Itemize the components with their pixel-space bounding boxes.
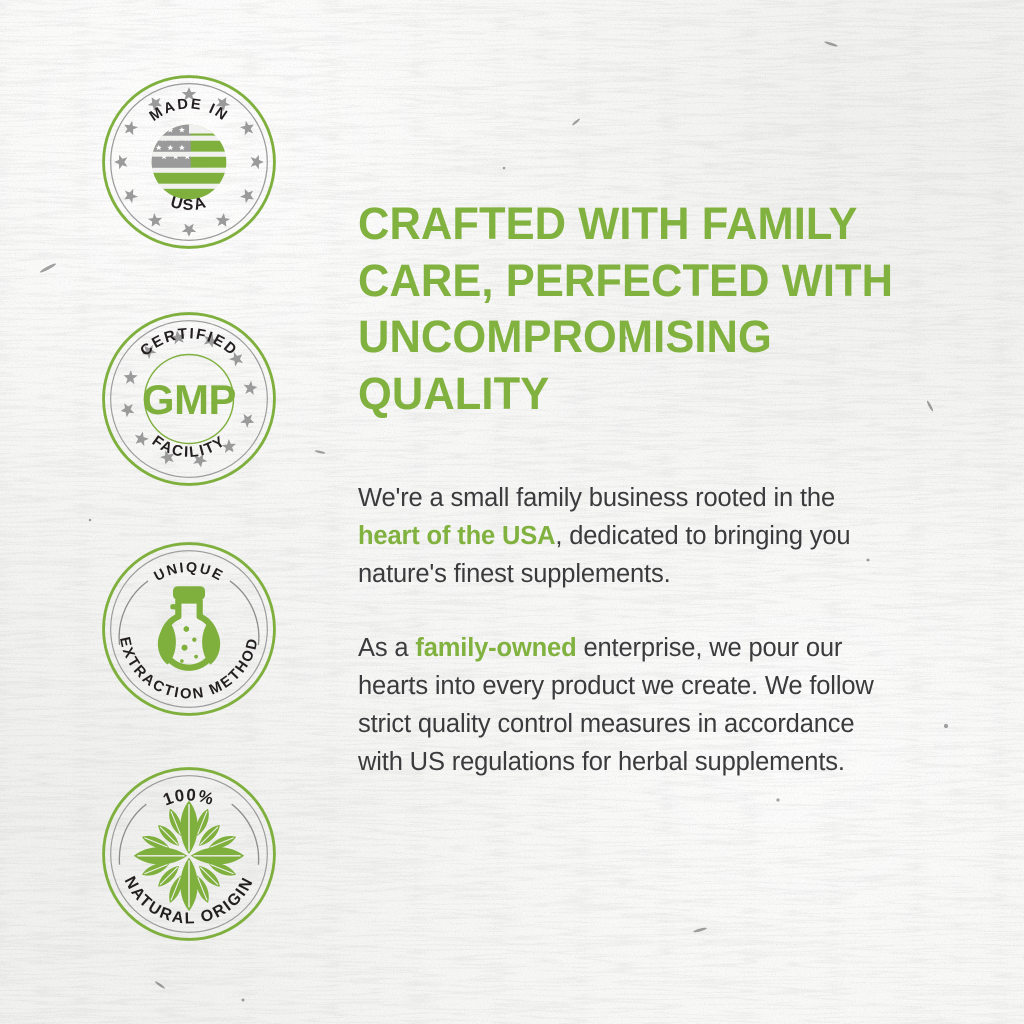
text-column: CRAFTED WITH FAMILY CARE, PERFECTED WITH… — [358, 196, 918, 781]
body-paragraph-2: As a family-owned enterprise, we pour ou… — [358, 629, 903, 781]
badge-bottom-text: USA — [169, 193, 210, 214]
unique-extraction-method-seal-icon: UNIQUE EXTRACTION METHOD — [100, 540, 278, 718]
promo-panel: MADE IN USA — [0, 0, 1024, 1024]
para2-before: As a — [358, 634, 415, 662]
page-title: CRAFTED WITH FAMILY CARE, PERFECTED WITH… — [358, 196, 898, 423]
para1-before: We're a small family business rooted in … — [358, 484, 835, 512]
para2-highlight: family-owned — [415, 634, 576, 662]
usa-flag-circle-icon — [150, 123, 230, 205]
gmp-certified-seal-icon: GMP CERTIFIED FACILITY — [100, 310, 278, 488]
natural-origin-seal-icon: 100% NATURAL ORIGIN — [100, 765, 278, 943]
para1-highlight: heart of the USA — [358, 522, 555, 550]
made-in-usa-seal-icon: MADE IN USA — [100, 73, 278, 251]
badge-bottom-text: FACILITY — [149, 432, 229, 461]
body-paragraph-1: We're a small family business rooted in … — [358, 479, 888, 593]
gmp-center-text: GMP — [142, 376, 236, 423]
badge-top-text: UNIQUE — [152, 560, 227, 585]
badge-top-text: MADE IN — [147, 96, 231, 125]
flask-with-leaves-icon — [158, 586, 220, 667]
